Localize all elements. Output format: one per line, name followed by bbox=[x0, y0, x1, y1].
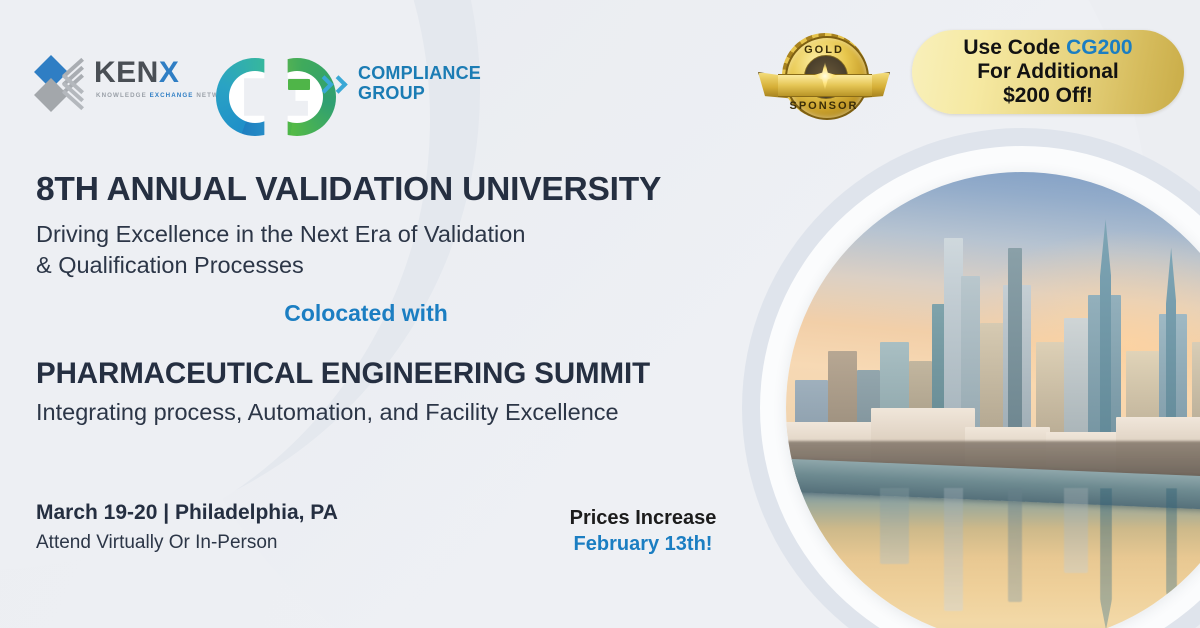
event-title: 8TH ANNUAL VALIDATION UNIVERSITY bbox=[36, 171, 661, 209]
promo-line-3: $200 Off! bbox=[963, 84, 1132, 108]
kenx-mark-icon bbox=[36, 56, 92, 110]
badge-bottom-label: SPONSOR bbox=[758, 100, 890, 112]
promo-use-code-label: Use Code bbox=[963, 36, 1066, 59]
promo-code-value: CG200 bbox=[1066, 36, 1133, 59]
summit-subtitle: Integrating process, Automation, and Fac… bbox=[36, 399, 619, 426]
kenx-wordmark: KENX bbox=[94, 58, 179, 88]
event-subtitle-line2: & Qualification Processes bbox=[36, 250, 525, 281]
price-increase-deadline: February 13th! bbox=[528, 531, 758, 557]
kenx-tagline-mid: EXCHANGE bbox=[150, 92, 194, 99]
kenx-wordmark-x: X bbox=[159, 56, 180, 89]
colocated-label: Colocated with bbox=[36, 300, 696, 327]
attend-mode-label: Attend Virtually Or In-Person bbox=[36, 532, 277, 554]
compliance-group-wordmark: COMPLIANCE GROUP bbox=[358, 63, 481, 103]
event-subtitle: Driving Excellence in the Next Era of Va… bbox=[36, 219, 525, 282]
city-skyline-photo bbox=[786, 172, 1200, 628]
compliance-group-line1: COMPLIANCE bbox=[358, 63, 481, 83]
event-dateline: March 19-20 | Philadelphia, PA bbox=[36, 501, 338, 525]
price-increase-label: Prices Increase bbox=[528, 505, 758, 531]
promo-line-1: Use Code CG200 bbox=[963, 36, 1132, 60]
cg-letter-g-crossbar bbox=[288, 79, 310, 90]
price-increase-notice: Prices Increase February 13th! bbox=[528, 505, 758, 557]
compliance-group-line2: GROUP bbox=[358, 83, 481, 103]
kenx-logo[interactable]: KENX KNOWLEDGE EXCHANGE NETWORK bbox=[36, 54, 226, 112]
kenx-tagline-pre: KNOWLEDGE bbox=[96, 92, 150, 99]
badge-top-label: GOLD bbox=[758, 44, 890, 56]
photo-water bbox=[786, 488, 1200, 628]
summit-title: PHARMACEUTICAL ENGINEERING SUMMIT bbox=[36, 357, 650, 391]
promo-line-2: For Additional bbox=[963, 60, 1132, 84]
promo-code-text: Use Code CG200 For Additional $200 Off! bbox=[963, 36, 1132, 107]
gold-sponsor-badge: GOLD SPONSOR bbox=[758, 32, 890, 128]
kenx-wordmark-ken: KEN bbox=[94, 56, 159, 89]
event-promo-banner: KENX KNOWLEDGE EXCHANGE NETWORK COMPLIAN… bbox=[0, 0, 1200, 628]
compliance-group-logo[interactable]: COMPLIANCE GROUP bbox=[214, 52, 454, 114]
event-subtitle-line1: Driving Excellence in the Next Era of Va… bbox=[36, 219, 525, 250]
promo-code-pill[interactable]: Use Code CG200 For Additional $200 Off! bbox=[912, 30, 1184, 114]
